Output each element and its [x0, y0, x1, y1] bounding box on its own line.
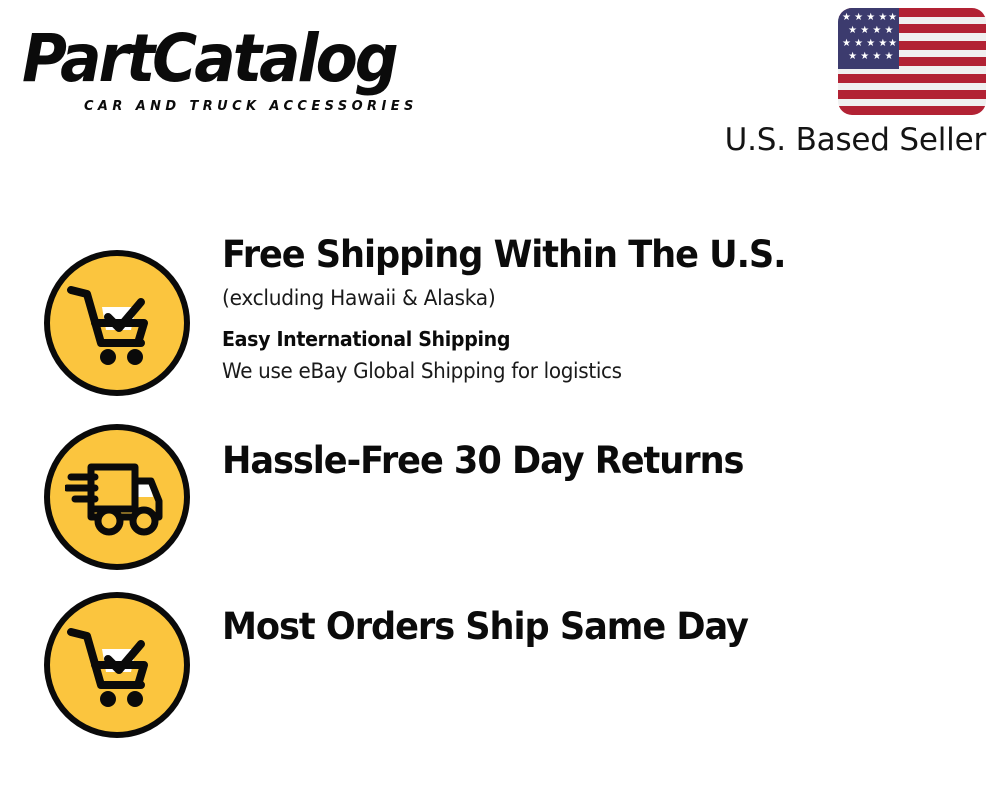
flag-stripe — [838, 74, 986, 83]
promo-banner: PartCatalog CAR AND TRUCK ACCESSORIES ★ … — [0, 0, 1000, 800]
feature-row: Most Orders Ship Same Day — [0, 580, 1000, 752]
feature-subtitle: (excluding Hawaii & Alaska) — [222, 282, 952, 314]
delivery-truck-icon — [44, 424, 190, 570]
flag-star-icon: ★ — [878, 39, 887, 49]
flag-star-icon: ★ — [888, 39, 897, 49]
feature-sub-heading: Easy International Shipping — [222, 324, 944, 354]
shopping-cart-check-icon — [44, 592, 190, 738]
flag-star-icon: ★ — [860, 26, 869, 36]
flag-star-icon: ★ — [848, 52, 857, 62]
flag-stars: ★ ★ ★ ★ ★ ★ ★ ★ ★ ★ ★ ★ ★ ★ ★ ★ ★ — [838, 8, 899, 69]
brand-wordmark: PartCatalog — [22, 22, 396, 96]
us-flag-icon: ★ ★ ★ ★ ★ ★ ★ ★ ★ ★ ★ ★ ★ ★ ★ ★ ★ — [838, 8, 986, 115]
brand-tagline: CAR AND TRUCK ACCESSORIES — [84, 98, 418, 114]
flag-star-icon: ★ — [842, 39, 851, 49]
feature-text-block: Hassle-Free 30 Day Returns — [222, 438, 982, 484]
flag-stripe — [838, 106, 986, 115]
feature-text-block: Free Shipping Within The U.S. (excluding… — [222, 232, 982, 386]
flag-star-icon: ★ — [884, 52, 893, 62]
flag-star-icon: ★ — [866, 39, 875, 49]
flag-star-icon: ★ — [878, 13, 887, 23]
feature-title: Hassle-Free 30 Day Returns — [222, 438, 944, 484]
brand-logo: PartCatalog CAR AND TRUCK ACCESSORIES — [22, 22, 492, 114]
feature-sub-detail: We use eBay Global Shipping for logistic… — [222, 356, 944, 386]
feature-title: Most Orders Ship Same Day — [222, 604, 944, 650]
shopping-cart-check-icon — [44, 250, 190, 396]
feature-row: Free Shipping Within The U.S. (excluding… — [0, 232, 1000, 414]
flag-star-icon: ★ — [872, 52, 881, 62]
flag-star-icon: ★ — [884, 26, 893, 36]
flag-star-icon: ★ — [860, 52, 869, 62]
flag-star-icon: ★ — [842, 13, 851, 23]
flag-stripe — [838, 90, 986, 99]
flag-star-icon: ★ — [854, 39, 863, 49]
us-based-seller-label: U.S. Based Seller — [725, 120, 986, 160]
flag-star-icon: ★ — [888, 13, 897, 23]
flag-star-icon: ★ — [848, 26, 857, 36]
banner-header: PartCatalog CAR AND TRUCK ACCESSORIES ★ … — [0, 0, 1000, 170]
flag-star-icon: ★ — [872, 26, 881, 36]
feature-title: Free Shipping Within The U.S. — [222, 232, 944, 278]
us-based-seller-block: ★ ★ ★ ★ ★ ★ ★ ★ ★ ★ ★ ★ ★ ★ ★ ★ ★ — [716, 8, 986, 158]
feature-row: Hassle-Free 30 Day Returns — [0, 414, 1000, 580]
flag-star-icon: ★ — [866, 13, 875, 23]
flag-star-icon: ★ — [854, 13, 863, 23]
feature-text-block: Most Orders Ship Same Day — [222, 604, 982, 650]
